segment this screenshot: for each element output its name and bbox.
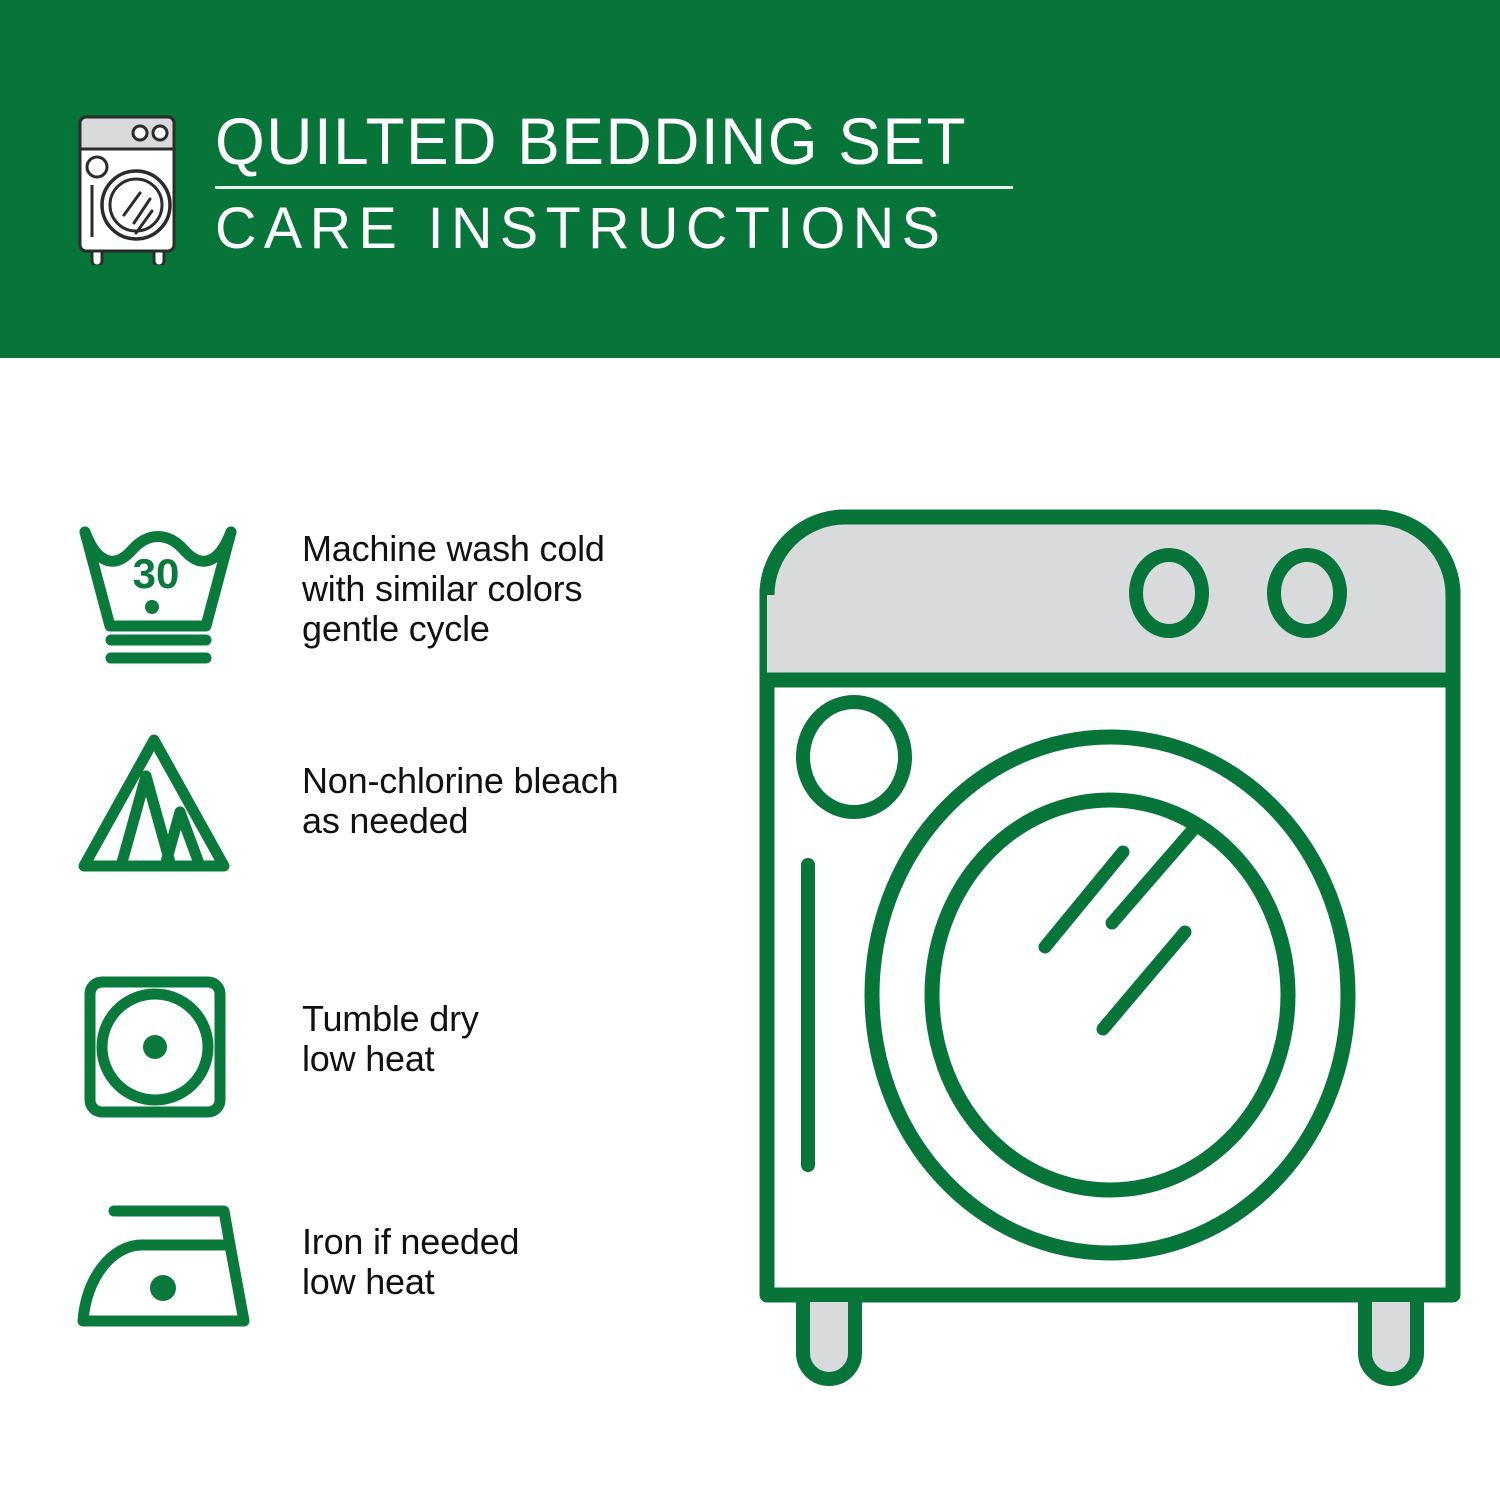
care-row-text: Tumble dry low heat (302, 999, 479, 1079)
washing-machine-icon (64, 105, 196, 265)
bleach-triangle-striped-icon (72, 728, 252, 883)
care-row-text: Machine wash cold with similar colors ge… (302, 529, 605, 649)
iron-one-dot-icon (72, 1198, 272, 1343)
header-band: QUILTED BEDDING SET CARE INSTRUCTIONS (0, 0, 1500, 358)
svg-text:30: 30 (133, 550, 180, 597)
page-title: QUILTED BEDDING SET (215, 104, 991, 178)
care-instructions-infographic: QUILTED BEDDING SET CARE INSTRUCTIONS 30 (0, 0, 1500, 1500)
tumble-dry-one-dot-icon (72, 970, 252, 1135)
wash-tub-30-gentle-icon: 30 (72, 518, 252, 673)
header-text-block: QUILTED BEDDING SET CARE INSTRUCTIONS (215, 104, 1015, 262)
care-row-text: Non-chlorine bleach as needed (302, 761, 618, 841)
page-subtitle: CARE INSTRUCTIONS (215, 196, 1007, 262)
care-row-text: Iron if needed low heat (302, 1222, 519, 1302)
title-divider (215, 186, 1013, 189)
washing-machine-illustration (745, 495, 1475, 1405)
care-symbol-list: 30 Machine wash cold with similar colors… (0, 358, 740, 1500)
